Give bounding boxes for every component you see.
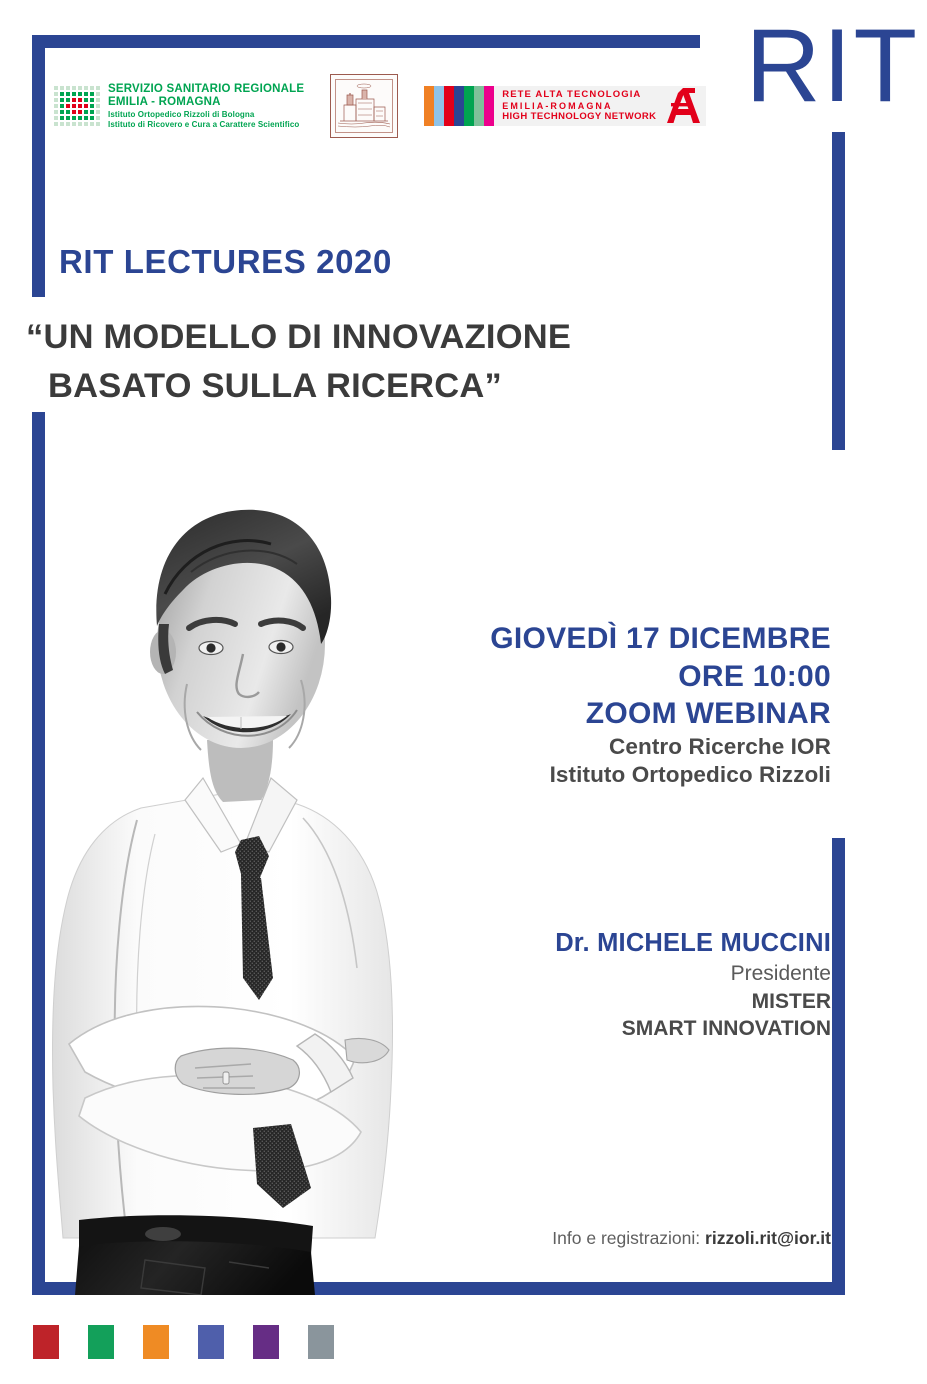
page-title-line-1: “UN MODELLO DI INNOVAZIONE	[26, 313, 571, 362]
poster: RIT SERVIZIO SANITARIO REGIONALE EMILIA …	[0, 0, 927, 1384]
speaker-portrait-image	[45, 448, 520, 1295]
ssr-line-4: Istituto di Ricovero e Cura a Carattere …	[108, 120, 304, 129]
rat-a-mark-icon	[662, 86, 706, 126]
swatch-blue	[198, 1325, 224, 1359]
event-details: GIOVEDÌ 17 DICEMBRE ORE 10:00 ZOOM WEBIN…	[411, 620, 831, 789]
speaker-details: Dr. MICHELE MUCCINI Presidente MISTER SM…	[371, 927, 831, 1042]
page-title-line-2: BASATO SULLA RICERCA”	[26, 362, 571, 411]
rizzoli-building-icon	[336, 81, 392, 131]
rat-line-2: EMILIA-ROMAGNA	[502, 101, 656, 112]
speaker-org-line-1: MISTER	[371, 988, 831, 1015]
swatch-purple	[253, 1325, 279, 1359]
frame-left-border-upper	[32, 35, 45, 297]
ssr-logo-text: SERVIZIO SANITARIO REGIONALE EMILIA - RO…	[108, 83, 304, 130]
swatch-green	[88, 1325, 114, 1359]
swatch-red	[33, 1325, 59, 1359]
rat-line-3: HIGH TECHNOLOGY NETWORK	[502, 111, 656, 123]
speaker-photo	[45, 448, 520, 1295]
logo-rizzoli-engraving	[330, 74, 398, 138]
event-venue-line-2: Istituto Ortopedico Rizzoli	[411, 761, 831, 789]
frame-right-border-lower	[832, 838, 845, 1295]
speaker-role: Presidente	[371, 960, 831, 988]
event-platform: ZOOM WEBINAR	[411, 695, 831, 733]
speaker-org-line-2: SMART INNOVATION	[371, 1015, 831, 1042]
rat-line-1: RETE ALTA TECNOLOGIA	[502, 89, 656, 101]
frame-right-border-upper	[832, 132, 845, 450]
swatch-gray	[308, 1325, 334, 1359]
logo-rete-alta-tecnologia: RETE ALTA TECNOLOGIA EMILIA-ROMAGNA HIGH…	[424, 86, 706, 126]
logo-strip: SERVIZIO SANITARIO REGIONALE EMILIA - RO…	[54, 74, 706, 138]
logo-servizio-sanitario-regionale: SERVIZIO SANITARIO REGIONALE EMILIA - RO…	[54, 83, 304, 130]
registration-info: Info e registrazioni: rizzoli.rit@ior.it	[552, 1228, 831, 1249]
rit-wordmark: RIT	[745, 14, 919, 118]
event-time: ORE 10:00	[411, 658, 831, 696]
ssr-line-3: Istituto Ortopedico Rizzoli di Bologna	[108, 110, 304, 119]
page-title: “UN MODELLO DI INNOVAZIONE BASATO SULLA …	[26, 313, 571, 411]
registration-label: Info e registrazioni:	[552, 1228, 700, 1248]
frame-top-border	[32, 35, 700, 48]
rat-logo-text: RETE ALTA TECNOLOGIA EMILIA-ROMAGNA HIGH…	[494, 86, 662, 126]
event-venue-line-1: Centro Ricerche IOR	[411, 733, 831, 761]
event-date: GIOVEDÌ 17 DICEMBRE	[411, 620, 831, 658]
color-swatch-bar	[33, 1325, 334, 1359]
speaker-name: Dr. MICHELE MUCCINI	[371, 927, 831, 960]
rat-color-bars-icon	[424, 86, 494, 126]
registration-email[interactable]: rizzoli.rit@ior.it	[705, 1228, 831, 1248]
swatch-orange	[143, 1325, 169, 1359]
frame-left-border-lower	[32, 412, 45, 1295]
ssr-line-2: EMILIA - ROMAGNA	[108, 96, 304, 109]
page-kicker: RIT LECTURES 2020	[59, 243, 392, 281]
ssr-dot-grid-icon	[54, 86, 100, 126]
ssr-line-1: SERVIZIO SANITARIO REGIONALE	[108, 83, 304, 96]
